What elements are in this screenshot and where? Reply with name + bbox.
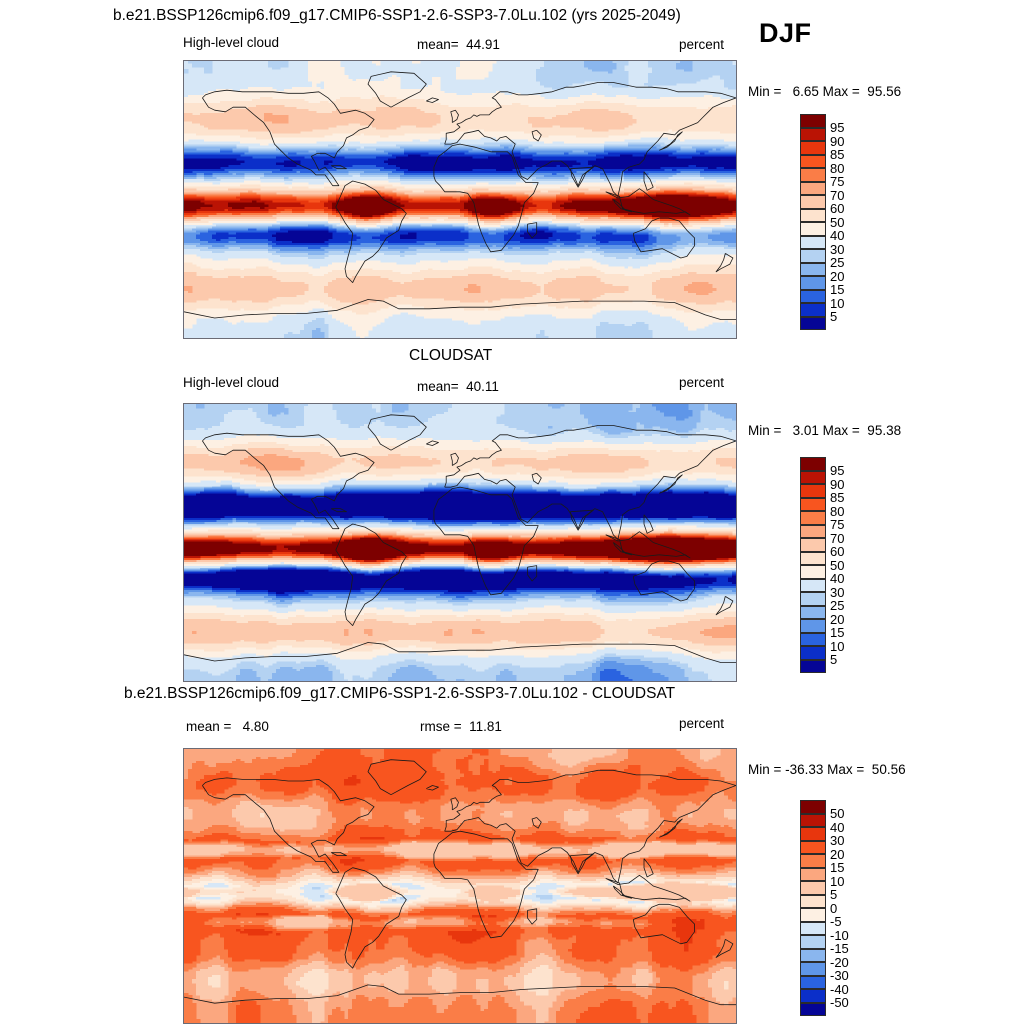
colorbar-tick-label: 85 xyxy=(830,148,844,161)
colorbar-swatch xyxy=(800,290,826,304)
colorbar-swatch xyxy=(800,962,826,976)
colorbar-swatch xyxy=(800,646,826,660)
panel-1-title: b.e21.BSSP126cmip6.f09_g17.CMIP6-SSP1-2.… xyxy=(113,8,681,24)
colorbar-swatch xyxy=(800,922,826,936)
panel-3-title: b.e21.BSSP126cmip6.f09_g17.CMIP6-SSP1-2.… xyxy=(124,686,675,702)
colorbar-tick-label: 75 xyxy=(830,175,844,188)
colorbar-tick-label: 60 xyxy=(830,202,844,215)
colorbar-swatch xyxy=(800,814,826,828)
colorbar-tick-label: 5 xyxy=(830,653,837,666)
colorbar-swatch xyxy=(800,565,826,579)
colorbar-swatch xyxy=(800,800,826,814)
colorbar-swatch xyxy=(800,1003,826,1017)
colorbar-tick-label: -40 xyxy=(830,983,849,996)
colorbar-tick-label: 5 xyxy=(830,310,837,323)
colorbar-swatch xyxy=(800,249,826,263)
colorbar-swatch xyxy=(800,976,826,990)
colorbar-tick-label: 70 xyxy=(830,189,844,202)
panel-3-units-label: percent xyxy=(679,717,724,731)
colorbar-cloudsat: 95908580757060504030252015105 xyxy=(800,457,890,677)
map-panel-difference xyxy=(183,748,737,1024)
colorbar-swatch xyxy=(800,168,826,182)
colorbar-tick-label: 10 xyxy=(830,297,844,310)
colorbar-tick-label: 5 xyxy=(830,888,837,901)
panel-2-mean-label: mean= 40.11 xyxy=(417,380,499,394)
colorbar-swatch xyxy=(800,303,826,317)
colorbar-tick-label: 80 xyxy=(830,162,844,175)
colorbar-tick-label: 0 xyxy=(830,902,837,915)
season-label: DJF xyxy=(759,20,812,47)
colorbar-swatch xyxy=(800,209,826,223)
colorbar-tick-label: 30 xyxy=(830,834,844,847)
colorbar-tick-label: 15 xyxy=(830,861,844,874)
panel-3-minmax-label: Min = -36.33 Max = 50.56 xyxy=(748,763,906,777)
colorbar-tick-label: 10 xyxy=(830,640,844,653)
colorbar-swatch xyxy=(800,236,826,250)
colorbar-tick-label: 30 xyxy=(830,243,844,256)
colorbar-swatch xyxy=(800,552,826,566)
colorbar-tick-label: -15 xyxy=(830,942,849,955)
colorbar-swatch xyxy=(800,619,826,633)
colorbar-swatch xyxy=(800,908,826,922)
panel-1-mean-label: mean= 44.91 xyxy=(417,38,500,52)
colorbar-swatch xyxy=(800,841,826,855)
colorbar-swatch xyxy=(800,935,826,949)
panel-1-units-label: percent xyxy=(679,38,724,52)
colorbar-tick-label: 30 xyxy=(830,586,844,599)
colorbar-tick-label: 20 xyxy=(830,848,844,861)
colorbar-swatch xyxy=(800,949,826,963)
colorbar-swatch xyxy=(800,128,826,142)
colorbar-swatch xyxy=(800,498,826,512)
colorbar-tick-label: -30 xyxy=(830,969,849,982)
colorbar-swatch xyxy=(800,633,826,647)
colorbar-swatch xyxy=(800,471,826,485)
colorbar-tick-label: 50 xyxy=(830,559,844,572)
colorbar-swatch xyxy=(800,660,826,674)
colorbar-difference: 50403020151050-5-10-15-20-30-40-50 xyxy=(800,800,890,1020)
colorbar-model: 95908580757060504030252015105 xyxy=(800,114,890,334)
colorbar-tick-label: 75 xyxy=(830,518,844,531)
colorbar-tick-label: 25 xyxy=(830,256,844,269)
colorbar-swatch xyxy=(800,525,826,539)
colorbar-swatch xyxy=(800,182,826,196)
panel-2-units-label: percent xyxy=(679,376,724,390)
colorbar-swatch xyxy=(800,276,826,290)
colorbar-tick-label: 95 xyxy=(830,464,844,477)
colorbar-tick-label: 50 xyxy=(830,807,844,820)
map-panel-cloudsat xyxy=(183,403,737,682)
colorbar-swatch xyxy=(800,538,826,552)
colorbar-swatch xyxy=(800,854,826,868)
colorbar-swatch xyxy=(800,155,826,169)
colorbar-tick-label: -20 xyxy=(830,956,849,969)
contour-field xyxy=(184,749,736,1023)
colorbar-tick-label: 10 xyxy=(830,875,844,888)
colorbar-swatch xyxy=(800,511,826,525)
figure-canvas: b.e21.BSSP126cmip6.f09_g17.CMIP6-SSP1-2.… xyxy=(0,0,1024,1024)
colorbar-swatch xyxy=(800,881,826,895)
colorbar-swatch xyxy=(800,989,826,1003)
colorbar-swatch xyxy=(800,222,826,236)
colorbar-tick-label: 95 xyxy=(830,121,844,134)
colorbar-swatch xyxy=(800,895,826,909)
colorbar-tick-label: 80 xyxy=(830,505,844,518)
colorbar-tick-label: 15 xyxy=(830,283,844,296)
colorbar-swatch xyxy=(800,579,826,593)
colorbar-swatch xyxy=(800,263,826,277)
colorbar-tick-label: 50 xyxy=(830,216,844,229)
colorbar-tick-label: 40 xyxy=(830,572,844,585)
panel-1-left-label: High-level cloud xyxy=(183,36,279,50)
colorbar-tick-label: 70 xyxy=(830,532,844,545)
colorbar-swatch xyxy=(800,141,826,155)
colorbar-tick-label: 85 xyxy=(830,491,844,504)
colorbar-swatch xyxy=(800,114,826,128)
colorbar-swatch xyxy=(800,868,826,882)
colorbar-swatch xyxy=(800,195,826,209)
colorbar-tick-label: 25 xyxy=(830,599,844,612)
colorbar-tick-label: -10 xyxy=(830,929,849,942)
colorbar-tick-label: -5 xyxy=(830,915,842,928)
colorbar-tick-label: 15 xyxy=(830,626,844,639)
colorbar-tick-label: 40 xyxy=(830,821,844,834)
colorbar-swatch xyxy=(800,484,826,498)
contour-field xyxy=(184,404,736,681)
panel-3-mean-label: mean = 4.80 xyxy=(186,720,269,734)
panel-1-minmax-label: Min = 6.65 Max = 95.56 xyxy=(748,85,901,99)
map-panel-model xyxy=(183,60,737,339)
colorbar-tick-label: 40 xyxy=(830,229,844,242)
colorbar-tick-label: 90 xyxy=(830,135,844,148)
colorbar-tick-label: 90 xyxy=(830,478,844,491)
colorbar-swatch xyxy=(800,827,826,841)
colorbar-tick-label: 20 xyxy=(830,613,844,626)
colorbar-swatch xyxy=(800,457,826,471)
colorbar-swatch xyxy=(800,317,826,331)
colorbar-tick-label: -50 xyxy=(830,996,849,1009)
panel-2-title: CLOUDSAT xyxy=(409,348,492,364)
colorbar-swatch xyxy=(800,592,826,606)
colorbar-swatch xyxy=(800,606,826,620)
panel-3-rmse-label: rmse = 11.81 xyxy=(420,720,502,734)
panel-2-minmax-label: Min = 3.01 Max = 95.38 xyxy=(748,424,901,438)
contour-field xyxy=(184,61,736,338)
colorbar-tick-label: 60 xyxy=(830,545,844,558)
panel-2-left-label: High-level cloud xyxy=(183,376,279,390)
colorbar-tick-label: 20 xyxy=(830,270,844,283)
